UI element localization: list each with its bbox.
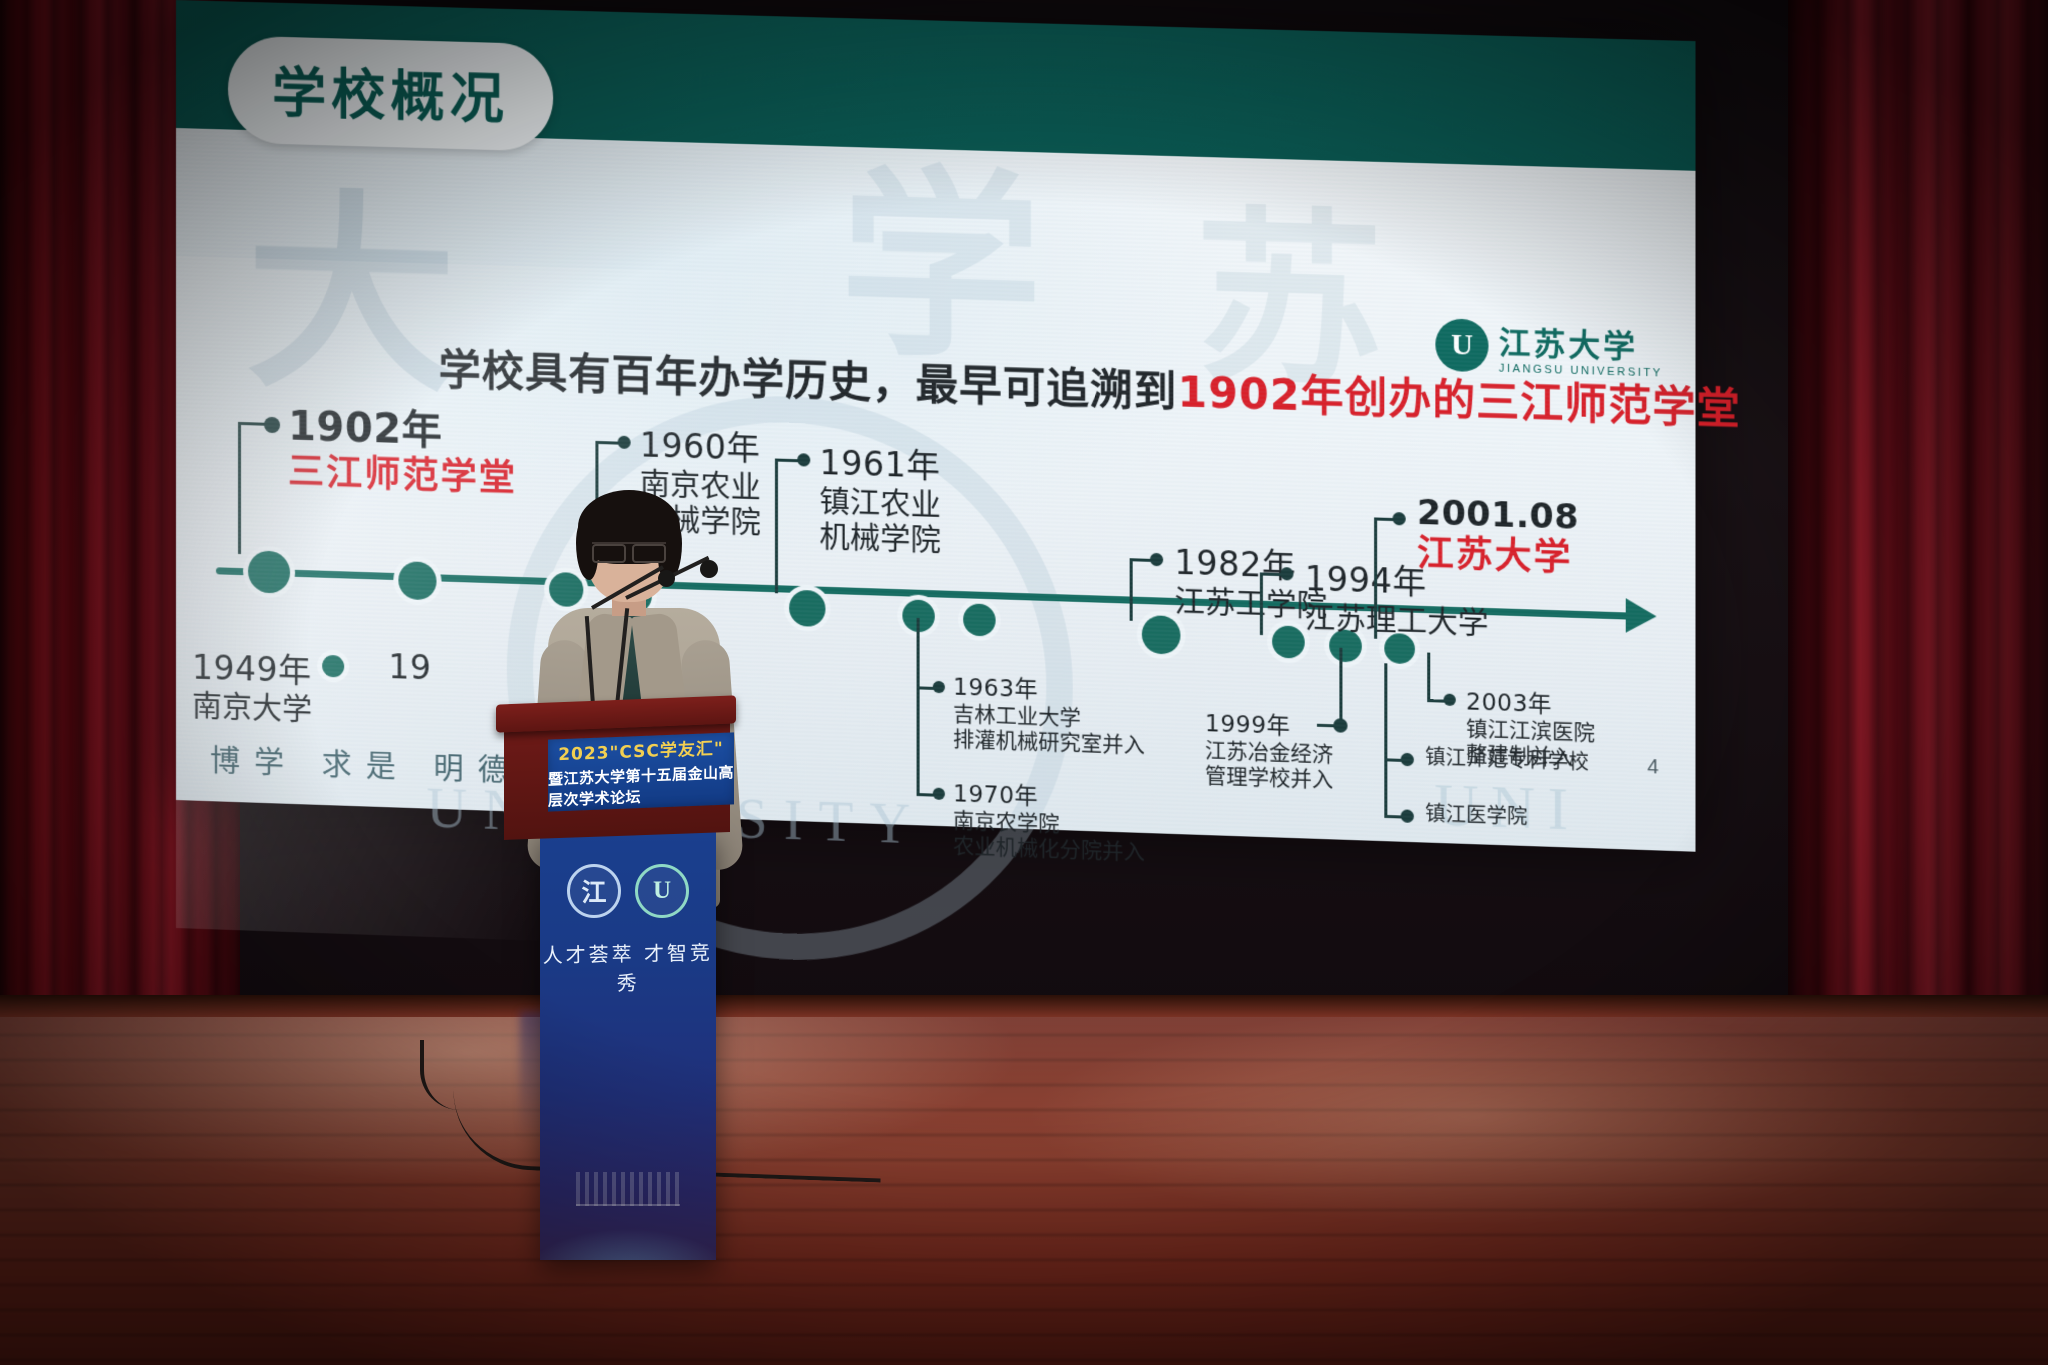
stem-1982 xyxy=(1130,558,1133,621)
stem-2001 xyxy=(1374,517,1377,638)
logo-mark-icon: U xyxy=(1435,318,1488,372)
slide-motto: 博学 求是 明德 xyxy=(210,735,522,790)
stage-curtain-right xyxy=(1788,0,2048,1035)
bullet-zjsfzk xyxy=(1401,753,1414,767)
slide-page-number: 4 xyxy=(1647,756,1658,780)
watermark-character-1: 大 xyxy=(246,190,457,407)
label-2003-year: 2003年 xyxy=(1466,682,1595,721)
microphone-head-2 xyxy=(658,570,675,587)
bullet-1963 xyxy=(933,681,945,693)
presentation-photo: 大 学 苏 UNIVERSITY UNI U 江苏大学 JIANGSU UNIV… xyxy=(0,0,2048,1365)
label-1960-year: 1960年 xyxy=(640,418,761,470)
slide-title-badge: 学校概况 xyxy=(228,35,553,151)
timeline-subnode-1949 xyxy=(322,655,344,678)
timeline-node-1961 xyxy=(789,590,825,627)
bullet-zjyxy xyxy=(1401,809,1414,823)
label-zjyxy: 镇江医学院 xyxy=(1425,802,1527,829)
label-1999-name-2: 管理学校并入 xyxy=(1205,764,1333,794)
stage-floor xyxy=(0,1010,2048,1365)
stem-1970 xyxy=(917,686,920,793)
slide-title-text: 学校概况 xyxy=(272,62,509,132)
label-1961-name-2: 机械学院 xyxy=(819,520,940,559)
bullet-1994 xyxy=(1280,567,1293,581)
stem-1994 xyxy=(1260,572,1263,635)
stem-2003 xyxy=(1427,653,1430,700)
timeline-node-1949 xyxy=(398,561,436,600)
label-1949: 1949年 南京大学 xyxy=(192,641,312,728)
label-1949-name: 南京大学 xyxy=(192,689,312,728)
label-2001: 2001.08 江苏大学 xyxy=(1417,493,1579,582)
label-1961-name-1: 镇江农业 xyxy=(819,484,940,523)
podium-sign-line-1: 2023"CSC学友汇" xyxy=(558,734,724,765)
podium: 江 U 人才荟萃 才智竞秀 2023"CSC学友汇" 暨江苏大学第十五届金山高层… xyxy=(496,700,736,1260)
stem-1963 xyxy=(917,618,920,687)
label-1902-year: 1902年 xyxy=(288,393,517,458)
podium-emblems: 江 U xyxy=(540,856,716,926)
timeline-node-1970 xyxy=(963,603,995,636)
headline-black-part: 学校具有百年办学历史，最早可追溯到 xyxy=(439,345,1178,417)
bullet-1970 xyxy=(933,788,945,800)
stem-h-1902 xyxy=(238,422,266,426)
podium-sign: 2023"CSC学友汇" 暨江苏大学第十五届金山高层次学术论坛 xyxy=(548,732,734,811)
bullet-2001 xyxy=(1392,512,1405,526)
floor-cable-2 xyxy=(420,1040,500,1110)
label-1999: 1999年 江苏冶金经济 管理学校并入 xyxy=(1205,704,1333,793)
label-1961-year: 1961年 xyxy=(819,436,940,488)
bullet-1960 xyxy=(618,436,631,449)
stem-1902 xyxy=(238,422,241,554)
stem-zjsfzk xyxy=(1384,663,1387,758)
stem-zjyxy xyxy=(1384,758,1387,815)
timeline-node-1994 xyxy=(1272,625,1305,658)
podium-wave-graphic xyxy=(540,1080,716,1260)
bullet-1999 xyxy=(1333,718,1347,733)
headline-red-part: 1902年创办的三江师范学堂 xyxy=(1177,367,1740,434)
label-1952: 19 xyxy=(388,647,431,687)
emblem-jsu-icon: U xyxy=(635,864,689,918)
stem-h-1960 xyxy=(595,441,619,445)
label-1961: 1961年 镇江农业 机械学院 xyxy=(819,436,940,559)
timeline-node-1902 xyxy=(248,550,290,593)
label-1999-year: 1999年 xyxy=(1205,704,1333,743)
label-1902-name: 三江师范学堂 xyxy=(288,451,517,501)
label-2001-year: 2001.08 xyxy=(1417,493,1579,539)
label-1994-name: 江苏理工大学 xyxy=(1305,600,1489,642)
speaker-glasses xyxy=(592,542,666,558)
slide-body: 大 学 苏 UNIVERSITY UNI U 江苏大学 JIANGSU UNIV… xyxy=(176,128,1696,852)
podium-slogan: 人才荟萃 才智竞秀 xyxy=(540,936,717,997)
label-1952-year: 19 xyxy=(388,647,431,687)
stem-1961 xyxy=(775,459,778,594)
podium-skyline-graphic xyxy=(576,1172,680,1206)
bullet-2003 xyxy=(1444,694,1456,707)
bullet-1982 xyxy=(1150,553,1163,567)
logo-chinese-name: 江苏大学 xyxy=(1499,317,1663,367)
stem-1999 xyxy=(1339,648,1342,725)
microphone-head-1 xyxy=(700,560,718,578)
stage-edge xyxy=(0,995,2048,1017)
label-1963: 1963年 吉林工业大学 排灌机械研究室并入 xyxy=(953,667,1145,758)
bullet-1961 xyxy=(797,453,810,466)
label-2001-name: 江苏大学 xyxy=(1417,533,1579,581)
watermark-character-2: 学 xyxy=(840,167,1043,374)
timeline-node-1982 xyxy=(1142,615,1181,655)
timeline-arrow-icon xyxy=(1626,598,1657,633)
label-1949-year: 1949年 xyxy=(192,641,312,693)
emblem-csc-icon: 江 xyxy=(567,864,621,918)
floor-sheen xyxy=(0,1010,2048,1365)
podium-sign-line-2: 暨江苏大学第十五届金山高层次学术论坛 xyxy=(548,761,734,810)
bullet-1902 xyxy=(264,417,280,434)
label-zjyxy-name: 镇江医学院 xyxy=(1425,802,1527,829)
label-1970: 1970年 南京农学院 农业机械化分院并入 xyxy=(953,774,1145,866)
podium-body: 江 U 人才荟萃 才智竞秀 xyxy=(540,830,716,1260)
projection-screen: 大 学 苏 UNIVERSITY UNI U 江苏大学 JIANGSU UNIV… xyxy=(176,0,1696,852)
label-1902: 1902年 三江师范学堂 xyxy=(288,393,517,501)
